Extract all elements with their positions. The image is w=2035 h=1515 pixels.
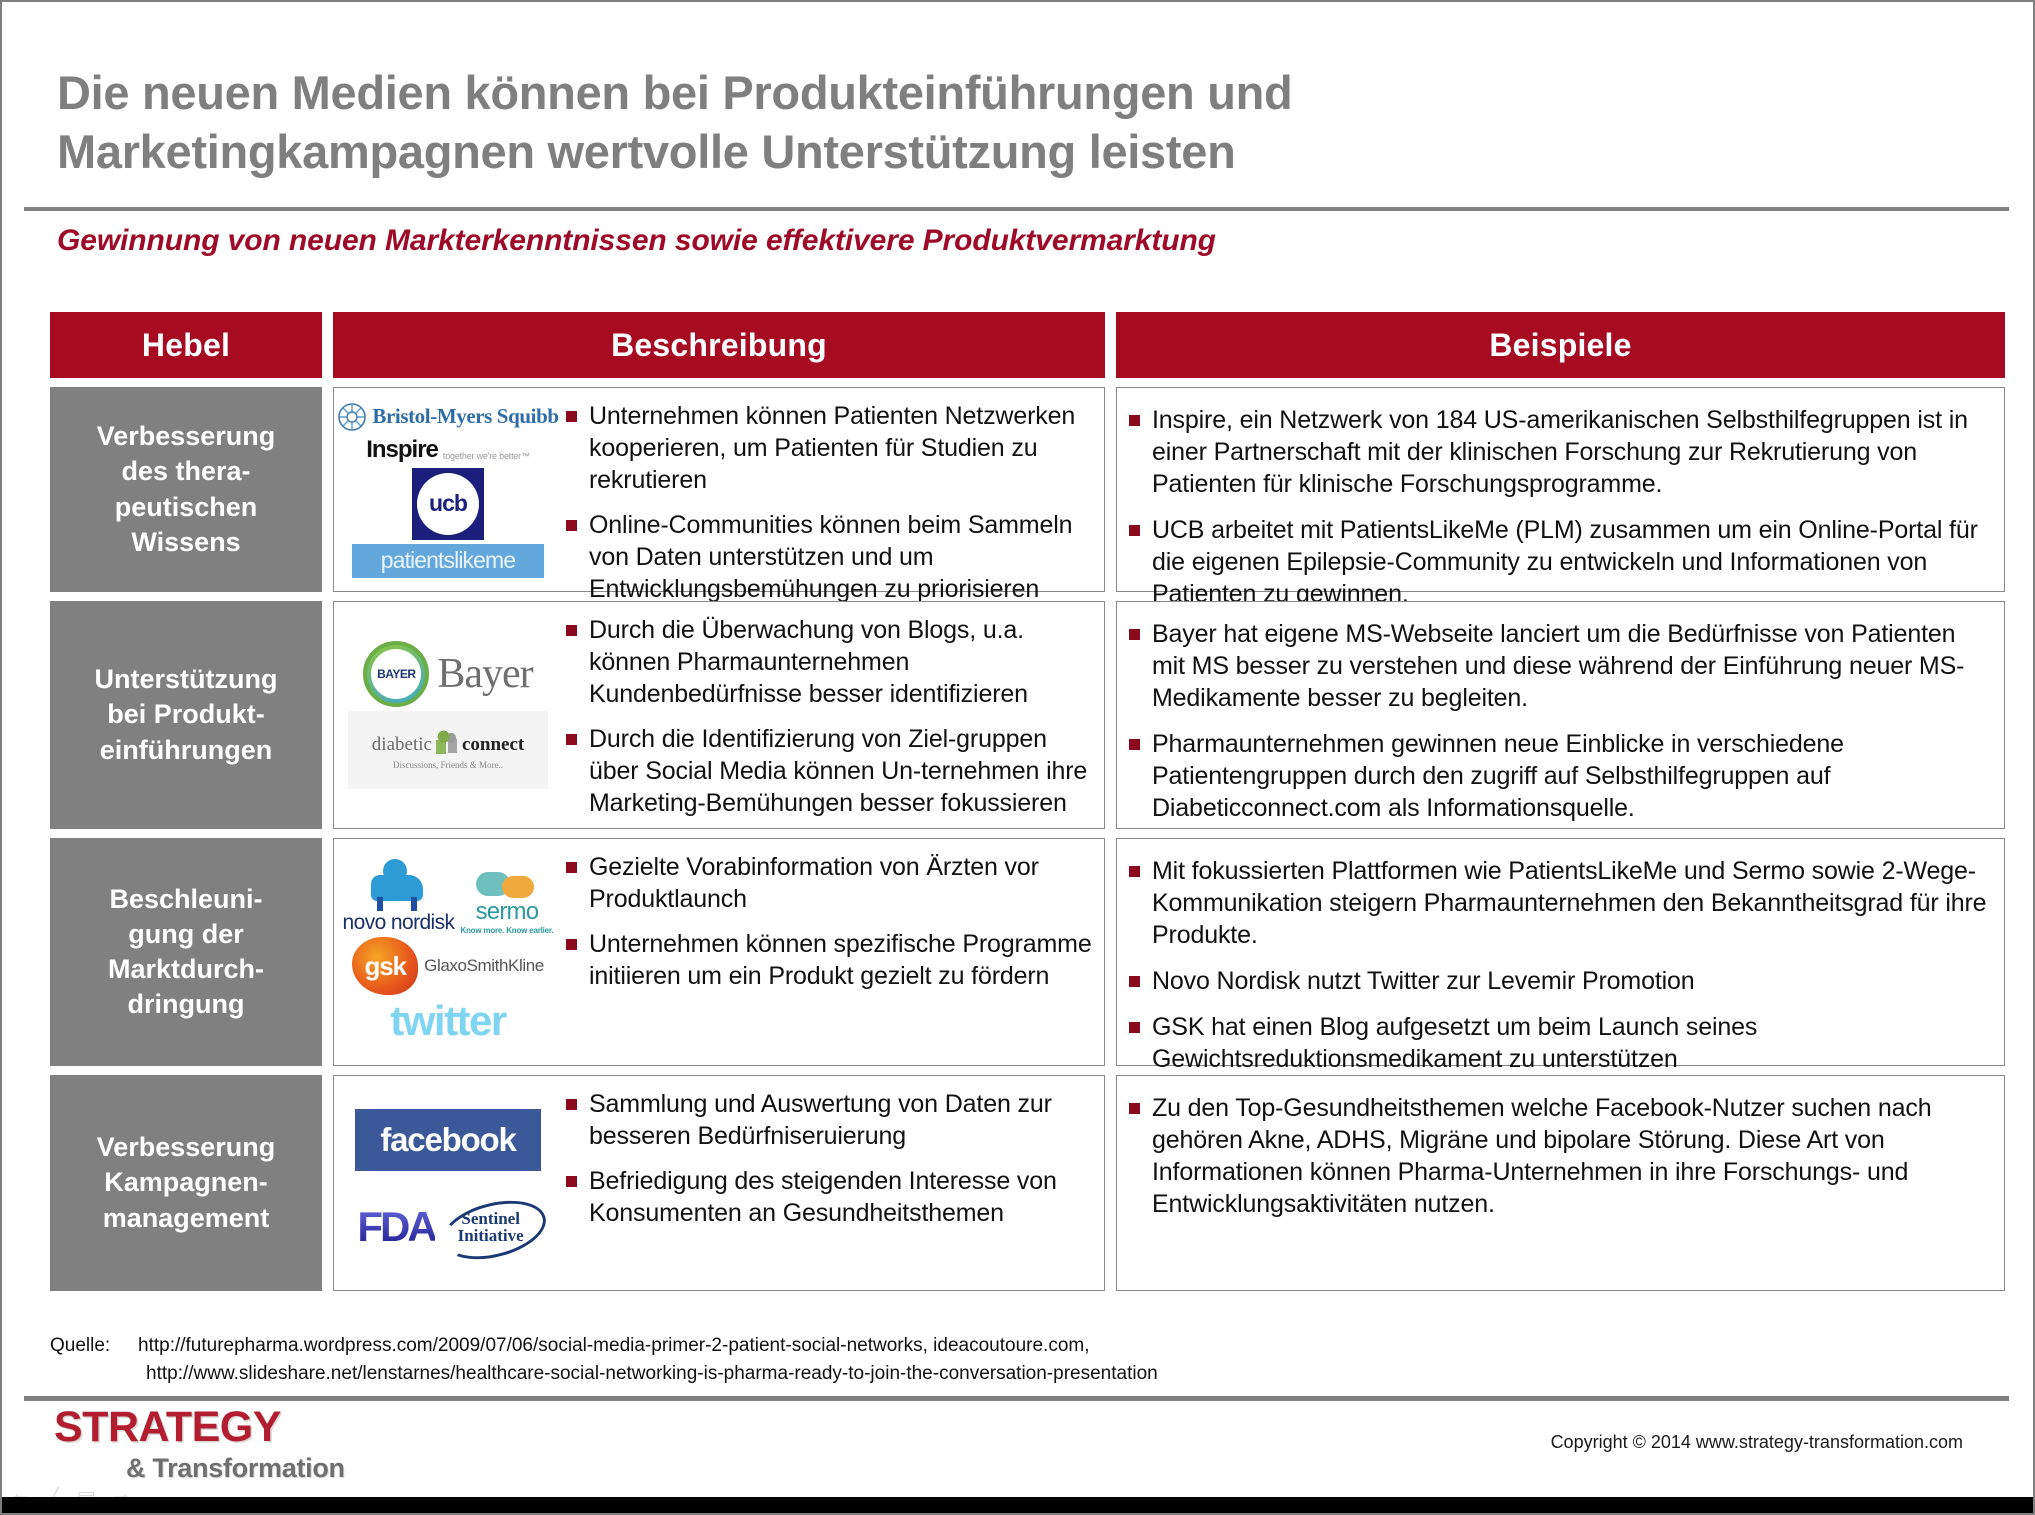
inspire-logo: Inspire together we're better™ — [366, 436, 530, 464]
title-line-2: Marketingkampagnen wertvolle Unterstützu… — [57, 123, 1917, 182]
description-cell: facebook FDA Sentinel Initiative Sammlun… — [333, 1075, 1105, 1291]
bullet-square-icon — [566, 1099, 577, 1110]
bullet-item: Sammlung und Auswertung von Daten zur be… — [566, 1088, 1092, 1152]
footer-divider — [24, 1396, 2009, 1401]
lever-line: Verbesserung — [97, 1130, 276, 1165]
bullet-text: Unternehmen können spezifische Programme… — [589, 928, 1092, 992]
novo-nordisk-label: novo nordisk — [343, 911, 455, 935]
bullet-item: Bayer hat eigene MS-Webseite lanciert um… — [1129, 618, 1990, 714]
company-logo: STRATEGY & Transformation — [54, 1406, 345, 1482]
sermo-tagline: Know more. Know earlier. — [460, 926, 553, 935]
speech-bubbles-icon — [476, 872, 538, 898]
fda-sentinel-initiative-logo: FDA Sentinel Initiative — [357, 1197, 538, 1257]
sermo-label: sermo — [476, 898, 539, 926]
examples-bullets: Bayer hat eigene MS-Webseite lanciert um… — [1117, 602, 2004, 828]
logo-stack: BAYER Bayer diabetic connect Discussions… — [334, 602, 562, 828]
title-divider — [24, 207, 2009, 211]
lever-line: gung der — [108, 917, 264, 952]
examples-cell: Mit fokussierten Plattformen wie Patient… — [1116, 838, 2005, 1066]
logo-stack: novo nordisk sermo Know more. Know earli… — [334, 839, 562, 1065]
bullet-item: Mit fokussierten Plattformen wie Patient… — [1129, 855, 1990, 951]
plm-label: patientslikeme — [381, 547, 515, 574]
table-row: Beschleuni- gung der Marktdurch- dringun… — [50, 838, 2005, 1066]
bullet-text: Mit fokussierten Plattformen wie Patient… — [1152, 855, 1990, 951]
facebook-logo: facebook — [355, 1109, 541, 1171]
bayer-label: Bayer — [437, 650, 532, 698]
lever-cell: Unterstützung bei Produkt- einführungen — [50, 601, 322, 829]
fda-label: FDA — [357, 1203, 434, 1251]
people-icon — [436, 730, 458, 760]
bullet-item: Zu den Top-Gesundheitsthemen welche Face… — [1129, 1092, 1990, 1220]
ucb-label: ucb — [429, 490, 467, 517]
bullet-item: Online-Communities können beim Sammeln v… — [566, 509, 1092, 605]
examples-bullets: Zu den Top-Gesundheitsthemen welche Face… — [1117, 1076, 2004, 1290]
examples-bullets: Inspire, ein Netzwerk von 184 US-amerika… — [1117, 388, 2004, 591]
bullet-square-icon — [1129, 976, 1140, 987]
description-cell: Bristol-Myers Squibb Inspire together we… — [333, 387, 1105, 592]
description-cell: novo nordisk sermo Know more. Know earli… — [333, 838, 1105, 1066]
bullet-text: Durch die Überwachung von Blogs, u.a. kö… — [589, 614, 1092, 710]
bullet-item: UCB arbeitet mit PatientsLikeMe (PLM) zu… — [1129, 514, 1990, 610]
bristol-myers-squibb-logo: Bristol-Myers Squibb — [337, 402, 558, 432]
source-label: Quelle: — [50, 1332, 138, 1360]
bullet-item: Gezielte Vorabinformation von Ärzten vor… — [566, 851, 1092, 915]
description-cell: BAYER Bayer diabetic connect Discussions… — [333, 601, 1105, 829]
examples-cell: Bayer hat eigene MS-Webseite lanciert um… — [1116, 601, 2005, 829]
slide-canvas: Die neuen Medien können bei Produkteinfü… — [0, 0, 2035, 1515]
bullet-square-icon — [1129, 525, 1140, 536]
bayer-cross-icon: BAYER — [363, 641, 429, 707]
bullet-text: UCB arbeitet mit PatientsLikeMe (PLM) zu… — [1152, 514, 1990, 610]
lever-line: des thera- — [97, 454, 276, 489]
bullet-square-icon — [1129, 1022, 1140, 1033]
lever-line: Unterstützung — [95, 662, 278, 697]
examples-cell: Inspire, ein Netzwerk von 184 US-amerika… — [1116, 387, 2005, 592]
lever-line: management — [97, 1201, 276, 1236]
bullet-item: Unternehmen können Patienten Netzwerken … — [566, 400, 1092, 496]
logo-stack: facebook FDA Sentinel Initiative — [334, 1076, 562, 1290]
bullet-text: Gezielte Vorabinformation von Ärzten vor… — [589, 851, 1092, 915]
sentinel-word: Sentinel — [461, 1210, 520, 1227]
lever-table: Hebel Beschreibung Beispiele Verbesserun… — [50, 312, 2005, 1291]
patientslikeme-logo: patientslikeme — [352, 544, 544, 578]
bottom-black-bar — [2, 1497, 2033, 1513]
bullet-square-icon — [1129, 739, 1140, 750]
diabetic-word: diabetic — [372, 734, 432, 756]
table-row: Verbesserung des thera- peutischen Wisse… — [50, 387, 2005, 592]
novo-nordisk-logo: novo nordisk — [343, 859, 455, 935]
bullet-item: Novo Nordisk nutzt Twitter zur Levemir P… — [1129, 965, 1990, 997]
bullet-text: Unternehmen können Patienten Netzwerken … — [589, 400, 1092, 496]
bullet-text: GSK hat einen Blog aufgesetzt um beim La… — [1152, 1011, 1990, 1075]
lever-line: bei Produkt- — [95, 697, 278, 732]
copyright-text: Copyright © 2014 www.strategy-transforma… — [1551, 1432, 1963, 1453]
lever-line: peutischen — [97, 490, 276, 525]
bullet-square-icon — [1129, 415, 1140, 426]
gsk-label: gsk — [365, 951, 406, 982]
description-bullets: Durch die Überwachung von Blogs, u.a. kö… — [562, 602, 1104, 828]
diabetic-connect-tagline: Discussions, Friends & More.. — [393, 760, 503, 770]
lever-cell: Verbesserung Kampagnen- management — [50, 1075, 322, 1291]
bullet-text: Inspire, ein Netzwerk von 184 US-amerika… — [1152, 404, 1990, 500]
initiative-word: Initiative — [458, 1227, 524, 1244]
glaxosmithkline-label: GlaxoSmithKline — [424, 956, 544, 976]
twitter-logo: twitter — [390, 997, 506, 1045]
page-title: Die neuen Medien können bei Produkteinfü… — [57, 64, 1917, 182]
bayer-logo: BAYER Bayer — [363, 641, 532, 707]
bms-emblem-icon — [337, 402, 367, 432]
lever-line: dringung — [108, 987, 264, 1022]
logo-primary-text: STRATEGY — [54, 1406, 345, 1449]
description-bullets: Unternehmen können Patienten Netzwerken … — [562, 388, 1104, 591]
sentinel-initiative-mark: Sentinel Initiative — [443, 1197, 539, 1257]
bullet-item: Befriedigung des steigenden Interesse vo… — [566, 1165, 1092, 1229]
bullet-text: Pharmaunternehmen gewinnen neue Einblick… — [1152, 728, 1990, 824]
inspire-label: Inspire — [366, 436, 438, 464]
examples-bullets: Mit fokussierten Plattformen wie Patient… — [1117, 839, 2004, 1065]
table-row: Unterstützung bei Produkt- einführungen … — [50, 601, 2005, 829]
source-footnote: Quelle:http://futurepharma.wordpress.com… — [50, 1332, 1950, 1387]
bullet-item: GSK hat einen Blog aufgesetzt um beim La… — [1129, 1011, 1990, 1075]
bullet-square-icon — [566, 520, 577, 531]
column-header-lever: Hebel — [50, 312, 322, 378]
lever-line: Wissens — [97, 525, 276, 560]
bullet-text: Befriedigung des steigenden Interesse vo… — [589, 1165, 1092, 1229]
bullet-square-icon — [1129, 866, 1140, 877]
lever-line: Marktdurch- — [108, 952, 264, 987]
bms-label: Bristol-Myers Squibb — [372, 404, 558, 429]
table-header-row: Hebel Beschreibung Beispiele — [50, 312, 2005, 378]
bull-icon — [369, 859, 427, 911]
source-line-2: http://www.slideshare.net/lenstarnes/hea… — [50, 1360, 1950, 1388]
connect-word: connect — [462, 734, 524, 756]
column-header-examples: Beispiele — [1116, 312, 2005, 378]
bullet-square-icon — [1129, 629, 1140, 640]
table-row: Verbesserung Kampagnen- management faceb… — [50, 1075, 2005, 1291]
bullet-square-icon — [566, 734, 577, 745]
examples-cell: Zu den Top-Gesundheitsthemen welche Face… — [1116, 1075, 2005, 1291]
lever-line: einführungen — [95, 733, 278, 768]
bullet-text: Sammlung und Auswertung von Daten zur be… — [589, 1088, 1092, 1152]
bullet-item: Pharmaunternehmen gewinnen neue Einblick… — [1129, 728, 1990, 824]
bullet-square-icon — [566, 1176, 577, 1187]
bullet-text: Bayer hat eigene MS-Webseite lanciert um… — [1152, 618, 1990, 714]
bullet-square-icon — [566, 411, 577, 422]
sermo-logo: sermo Know more. Know earlier. — [460, 872, 553, 935]
lever-cell: Beschleuni- gung der Marktdurch- dringun… — [50, 838, 322, 1066]
logo-stack: Bristol-Myers Squibb Inspire together we… — [334, 388, 562, 591]
ucb-logo: ucb — [412, 468, 484, 540]
bullet-text: Zu den Top-Gesundheitsthemen welche Face… — [1152, 1092, 1990, 1220]
subtitle: Gewinnung von neuen Markterkenntnissen s… — [57, 224, 1957, 258]
column-header-description: Beschreibung — [333, 312, 1105, 378]
lever-line: Kampagnen- — [97, 1165, 276, 1200]
logo-secondary-text: & Transformation — [54, 1455, 345, 1482]
title-line-1: Die neuen Medien können bei Produkteinfü… — [57, 64, 1917, 123]
bullet-item: Inspire, ein Netzwerk von 184 US-amerika… — [1129, 404, 1990, 500]
inspire-tagline: together we're better™ — [443, 451, 530, 464]
bullet-square-icon — [566, 625, 577, 636]
bullet-item: Durch die Identifizierung von Ziel-grupp… — [566, 723, 1092, 819]
gsk-blob-icon: gsk — [352, 937, 418, 995]
facebook-label: facebook — [380, 1121, 515, 1159]
diabetic-connect-logo: diabetic connect Discussions, Friends & … — [348, 711, 548, 789]
lever-line: Verbesserung — [97, 419, 276, 454]
bullet-item: Unternehmen können spezifische Programme… — [566, 928, 1092, 992]
description-bullets: Sammlung und Auswertung von Daten zur be… — [562, 1076, 1104, 1290]
bullet-item: Durch die Überwachung von Blogs, u.a. kö… — [566, 614, 1092, 710]
description-bullets: Gezielte Vorabinformation von Ärzten vor… — [562, 839, 1104, 1065]
bullet-text: Online-Communities können beim Sammeln v… — [589, 509, 1092, 605]
lever-line: Beschleuni- — [108, 882, 264, 917]
bullet-square-icon — [566, 862, 577, 873]
gsk-logo: gsk GlaxoSmithKline — [352, 937, 544, 995]
bullet-square-icon — [566, 939, 577, 950]
bullet-square-icon — [1129, 1103, 1140, 1114]
source-line-1: http://futurepharma.wordpress.com/2009/0… — [138, 1335, 1090, 1356]
bullet-text: Durch die Identifizierung von Ziel-grupp… — [589, 723, 1092, 819]
lever-cell: Verbesserung des thera- peutischen Wisse… — [50, 387, 322, 592]
bullet-text: Novo Nordisk nutzt Twitter zur Levemir P… — [1152, 965, 1695, 997]
